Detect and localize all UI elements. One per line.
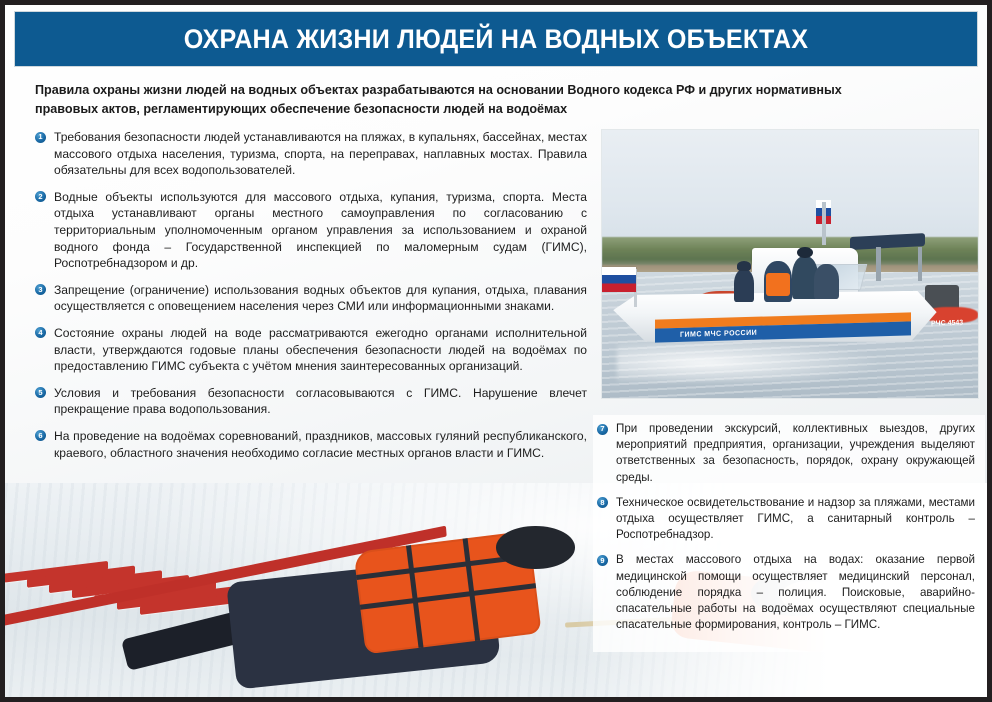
flag-mast [822, 202, 826, 245]
list-item: 6 На проведение на водоёмах соревнований… [35, 428, 587, 461]
list-item: 9 В местах массового отдыха на водах: ок… [597, 552, 975, 633]
boat-hull-text: ГИМС МЧС РОССИИ [680, 328, 757, 339]
intro-paragraph: Правила охраны жизни людей на водных объ… [35, 81, 895, 119]
page-title: ОХРАНА ЖИЗНИ ЛЮДЕЙ НА ВОДНЫХ ОБЪЕКТАХ [49, 12, 944, 66]
photo-patrol-boat: ГИМС МЧС РОССИИ РЧС 4543 [601, 129, 979, 399]
list-item: 5 Условия и требования безопасности согл… [35, 385, 587, 418]
item-text: Условия и требования безопасности соглас… [54, 386, 587, 417]
crew-member [764, 261, 792, 301]
item-number-badge: 6 [35, 430, 46, 441]
canopy-support [918, 247, 923, 282]
item-text: Состояние охраны людей на воде рассматри… [54, 326, 587, 373]
item-number-badge: 7 [597, 424, 608, 435]
item-number-badge: 5 [35, 387, 46, 398]
item-text: На проведение на водоёмах соревнований, … [54, 429, 587, 460]
item-text: Техническое освидетельствование и надзор… [616, 496, 975, 541]
list-item: 1 Требования безопасности людей устанавл… [35, 129, 587, 179]
item-number-badge: 4 [35, 327, 46, 338]
item-text: Запрещение (ограничение) использования в… [54, 283, 587, 314]
header-bar: ОХРАНА ЖИЗНИ ЛЮДЕЙ НА ВОДНЫХ ОБЪЕКТАХ [14, 11, 978, 67]
item-text: При проведении экскурсий, коллективных в… [616, 422, 975, 484]
item-number-badge: 1 [35, 132, 46, 143]
item-number-badge: 3 [35, 284, 46, 295]
victim-hood [496, 526, 575, 569]
right-rules-column: 7 При проведении экскурсий, коллективных… [593, 415, 985, 652]
list-item: 7 При проведении экскурсий, коллективных… [597, 421, 975, 486]
crew-member [734, 269, 755, 301]
list-item: 3 Запрещение (ограничение) использования… [35, 282, 587, 315]
poster-canvas: ОХРАНА ЖИЗНИ ЛЮДЕЙ НА ВОДНЫХ ОБЪЕКТАХ Пр… [5, 5, 987, 697]
item-text: В местах массового отдыха на водах: оказ… [616, 553, 975, 631]
item-number-badge: 2 [35, 191, 46, 202]
item-number-badge: 8 [597, 497, 608, 508]
boat-registration-number: РЧС 4543 [931, 320, 963, 328]
list-item: 4 Состояние охраны людей на воде рассмат… [35, 325, 587, 375]
list-item: 8 Техническое освидетельствование и надз… [597, 495, 975, 544]
left-rules-column: 1 Требования безопасности людей устанавл… [35, 129, 587, 471]
item-number-badge: 9 [597, 555, 608, 566]
canopy-support [876, 247, 881, 282]
crew-member [814, 264, 838, 299]
list-item: 2 Водные объекты используются для массов… [35, 189, 587, 272]
item-text: Водные объекты используются для массовог… [54, 190, 587, 270]
russian-flag-bow-icon [602, 267, 636, 292]
item-text: Требования безопасности людей устанавлив… [54, 130, 587, 177]
